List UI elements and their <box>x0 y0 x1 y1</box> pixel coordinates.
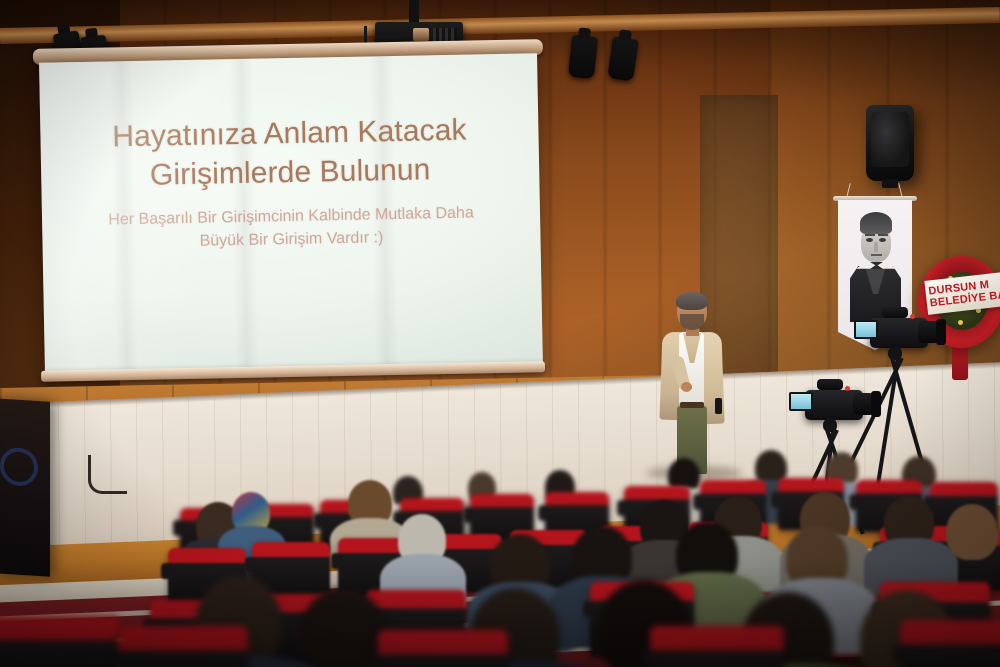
portrait-figure <box>848 212 902 320</box>
camera-lcd-screen <box>854 320 878 339</box>
seated-audience <box>0 430 1000 667</box>
slide-content: Hayatınıza Anlam Katacak Girişimlerde Bu… <box>40 109 541 256</box>
camera-record-light-icon <box>910 314 915 319</box>
camera-lens-hood <box>871 391 881 417</box>
camera-lens-hood <box>936 319 946 345</box>
speaker-grill <box>871 112 909 167</box>
auditorium-seat[interactable] <box>900 620 1000 667</box>
wall-mounted-pa-speaker <box>866 105 914 181</box>
presenter-belt <box>680 402 704 408</box>
auditorium-seat[interactable] <box>650 626 784 667</box>
presenter-hand <box>681 382 692 392</box>
projection-screen: Hayatınıza Anlam Katacak Girişimlerde Bu… <box>39 53 543 373</box>
presenter-hair <box>676 292 708 310</box>
camera-record-light-icon <box>845 386 850 391</box>
spotlight-icon <box>568 35 598 79</box>
speaker-mount-foot <box>882 179 898 188</box>
auditorium-seat[interactable] <box>118 626 248 667</box>
projector-lens <box>413 28 429 41</box>
camera-microphone <box>817 379 843 390</box>
camera-microphone <box>882 307 908 318</box>
audience-head <box>946 504 998 560</box>
auditorium-seat[interactable] <box>378 630 508 667</box>
projection-screen-assembly: Hayatınıza Anlam Katacak Girişimlerde Bu… <box>33 39 549 389</box>
presenter-beard <box>680 314 704 330</box>
auditorium-seat[interactable] <box>0 616 120 667</box>
camera-lcd-screen <box>789 392 813 411</box>
presenter-clicker <box>715 398 722 414</box>
auditorium-scene: Hayatınıza Anlam Katacak Girişimlerde Bu… <box>0 0 1000 667</box>
